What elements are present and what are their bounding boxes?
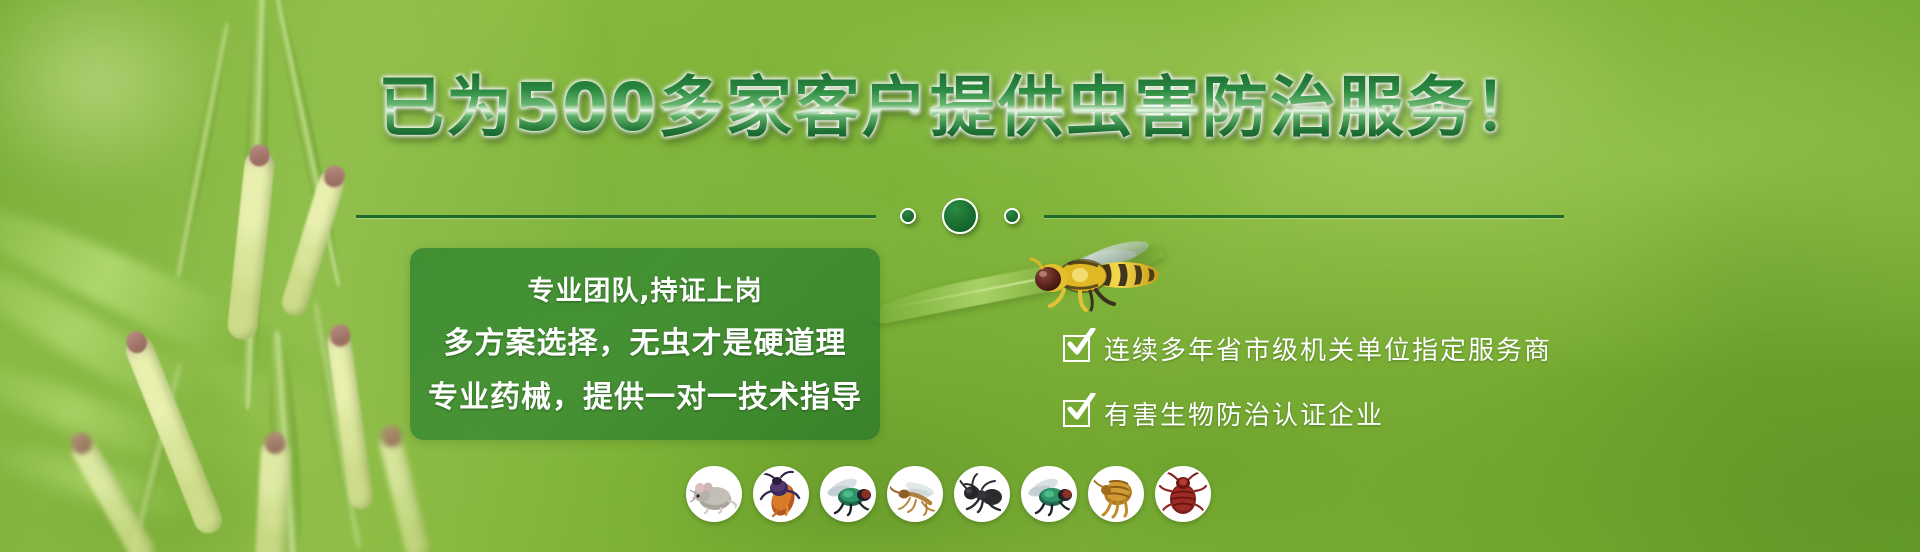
dot-small-right-icon xyxy=(1004,208,1020,224)
check-icon xyxy=(1063,400,1090,427)
pest-chip-cockroach[interactable]: 蟑螂 xyxy=(753,466,809,522)
pest-chip-flea[interactable]: 跳蚤 xyxy=(1088,466,1144,522)
divider-dot-group xyxy=(876,198,1044,234)
check-icon xyxy=(1063,335,1090,362)
dot-large-center-icon xyxy=(942,198,978,234)
pest-chip-bedbug[interactable]: 臭虫 xyxy=(1155,466,1211,522)
list-item: 有害生物防治认证企业 xyxy=(1063,395,1552,432)
divider-rule-right xyxy=(1044,215,1564,218)
pest-chip-ant[interactable]: 蚂蚁 xyxy=(954,466,1010,522)
promo-line-3: 专业药械，提供一对一技术指导 xyxy=(428,372,862,416)
dot-small-left-icon xyxy=(900,208,916,224)
pest-chip-blowfly-2[interactable]: 蝇 xyxy=(1021,466,1077,522)
promo-line-1: 专业团队,持证上岗 xyxy=(527,269,762,308)
pest-chip-blowfly[interactable]: 蝇 xyxy=(820,466,876,522)
pest-icon-row: 鼠 蟑螂 xyxy=(686,466,1211,522)
pest-chip-mosquito[interactable]: 蚊 xyxy=(887,466,943,522)
divider xyxy=(0,196,1920,236)
list-item-label: 有害生物防治认证企业 xyxy=(1104,395,1384,432)
pest-chip-mouse[interactable]: 鼠 xyxy=(686,466,742,522)
hoverfly-icon xyxy=(1020,232,1170,312)
promo-line-2: 多方案选择，无虫才是硬道理 xyxy=(444,318,847,362)
divider-rule-left xyxy=(356,215,876,218)
list-item-label: 连续多年省市级机关单位指定服务商 xyxy=(1104,330,1552,367)
pest-control-banner: 已为500多家客户提供虫害防治服务！ 专业团队,持证上岗 多方案选择，无虫才是硬… xyxy=(0,0,1920,552)
credential-list: 连续多年省市级机关单位指定服务商 有害生物防治认证企业 xyxy=(1063,330,1552,432)
list-item: 连续多年省市级机关单位指定服务商 xyxy=(1063,330,1552,367)
flower-spike xyxy=(255,437,292,552)
promo-panel: 专业团队,持证上岗 多方案选择，无虫才是硬道理 专业药械，提供一对一技术指导 xyxy=(410,248,880,440)
